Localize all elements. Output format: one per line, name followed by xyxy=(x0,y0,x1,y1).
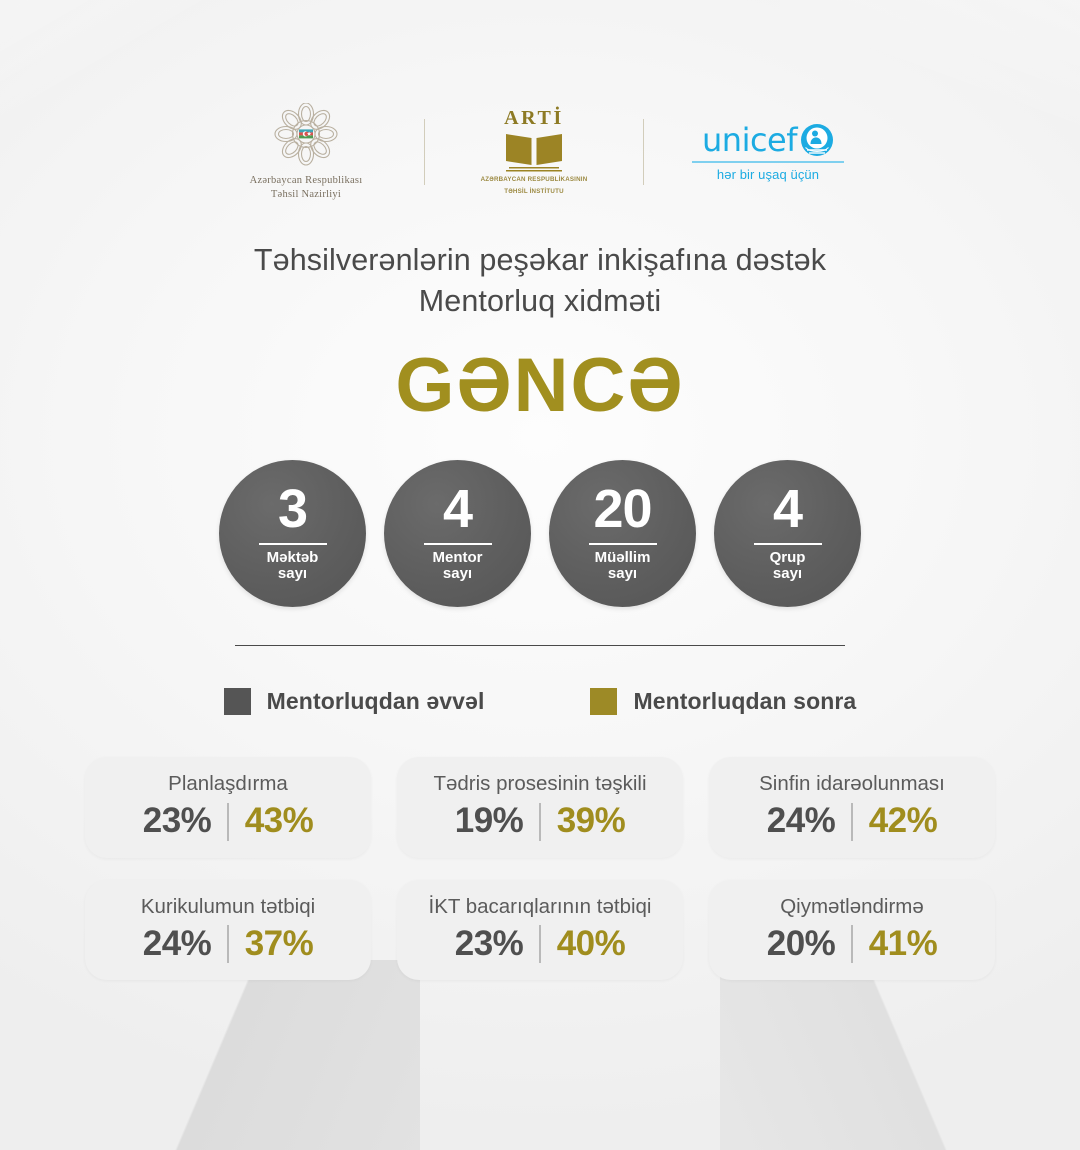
unicef-rule xyxy=(692,161,844,162)
stat-label-line1: Məktəb xyxy=(267,550,319,566)
metric-card-grid: Planlaşdırma 23% 43% Tədris prosesinin t… xyxy=(85,757,995,980)
arti-logo-sub2: TƏHSİL İNSTİTUTU xyxy=(504,188,563,197)
metric-value-after: 40% xyxy=(541,926,661,963)
metric-card-planlasdirma: Planlaşdırma 23% 43% xyxy=(85,757,371,858)
stat-rule xyxy=(259,543,327,544)
logo-bar: Azərbaycan Respublikası Təhsil Nazirliyi… xyxy=(0,0,1080,200)
metric-card-kurikulumun-tetbiqi: Kurikulumun tətbiqi 24% 37% xyxy=(85,880,371,981)
headline-line1: Təhsilverənlərin peşəkar inkişafına dəst… xyxy=(0,240,1080,281)
legend-swatch-after-icon xyxy=(590,688,617,715)
logo-divider-2 xyxy=(643,119,644,185)
legend-label-before: Mentorluqdan əvvəl xyxy=(267,688,485,715)
metric-value-after: 41% xyxy=(853,926,973,963)
metric-value-before: 23% xyxy=(419,926,539,963)
metric-value-before: 20% xyxy=(731,926,851,963)
stat-circle-mentors: 4 Mentor sayı xyxy=(384,460,531,607)
stat-rule xyxy=(424,543,492,544)
metric-value-after: 42% xyxy=(853,803,973,840)
city-name: GƏNCƏ xyxy=(0,348,1080,424)
metric-card-tedris-prosesinin-teskili: Tədris prosesinin təşkili 19% 39% xyxy=(397,757,683,858)
decorative-wedge-bottom-right xyxy=(720,960,1080,1150)
chart-legend: Mentorluqdan əvvəl Mentorluqdan sonra xyxy=(0,688,1080,715)
ministry-logo: Azərbaycan Respublikası Təhsil Nazirliyi xyxy=(222,103,390,201)
section-divider xyxy=(235,645,845,647)
arti-logo: ARTİ AZƏRBAYCAN RESPUBLİKASININ TƏHSİL İ… xyxy=(459,108,609,196)
logo-divider-1 xyxy=(424,119,425,185)
metric-value-after: 39% xyxy=(541,803,661,840)
metric-card-qiymetlendirme: Qiymətləndirmə 20% 41% xyxy=(709,880,995,981)
stat-label-line2: sayı xyxy=(267,566,319,582)
stat-label-line1: Qrup xyxy=(770,550,806,566)
metric-card-title: Planlaşdırma xyxy=(95,773,361,796)
stat-value: 4 xyxy=(443,484,472,536)
stat-label-line2: sayı xyxy=(770,566,806,582)
metric-card-ikt-bacariqlarinin-tetbiqi: İKT bacarıqlarının tətbiqi 23% 40% xyxy=(397,880,683,981)
legend-item-after: Mentorluqdan sonra xyxy=(590,688,856,715)
metric-value-after: 43% xyxy=(229,803,349,840)
stat-circle-schools: 3 Məktəb sayı xyxy=(219,460,366,607)
stat-circle-group: 3 Məktəb sayı 4 Mentor sayı 20 M xyxy=(0,460,1080,607)
stat-circle-teachers: 20 Müəllim sayı xyxy=(549,460,696,607)
azerbaijan-ministry-emblem-icon xyxy=(267,103,345,167)
unicef-wordmark: unicef xyxy=(702,124,797,156)
stat-label-line2: sayı xyxy=(433,566,483,582)
metric-card-title: Kurikulumun tətbiqi xyxy=(95,896,361,919)
unicef-logo: unicef xyxy=(678,123,858,180)
stat-value: 3 xyxy=(278,484,307,536)
unicef-tagline: hər bir uşaq üçün xyxy=(717,168,819,181)
metric-value-before: 24% xyxy=(731,803,851,840)
metric-card-title: Tədris prosesinin təşkili xyxy=(407,773,673,796)
arti-logo-sub1: AZƏRBAYCAN RESPUBLİKASININ xyxy=(481,176,588,185)
page-title: Təhsilverənlərin peşəkar inkişafına dəst… xyxy=(0,240,1080,322)
stat-rule xyxy=(754,543,822,544)
stat-label-line1: Müəllim xyxy=(595,550,651,566)
stat-value: 4 xyxy=(773,484,802,536)
open-book-icon xyxy=(503,131,565,173)
ministry-logo-line1: Azərbaycan Respublikası xyxy=(250,174,363,187)
infographic-poster: Azərbaycan Respublikası Təhsil Nazirliyi… xyxy=(0,0,1080,1150)
stat-label-line1: Mentor xyxy=(433,550,483,566)
unicef-globe-icon xyxy=(800,123,834,157)
metric-value-before: 19% xyxy=(419,803,539,840)
metric-card-title: Qiymətləndirmə xyxy=(719,896,985,919)
decorative-wedge-bottom-left xyxy=(0,960,420,1150)
ministry-logo-line2: Təhsil Nazirliyi xyxy=(271,188,341,201)
metric-value-before: 24% xyxy=(107,926,227,963)
metric-card-sinfin-idareolunmasi: Sinfin idarəolunması 24% 42% xyxy=(709,757,995,858)
stat-rule xyxy=(589,543,657,544)
arti-wordmark: ARTİ xyxy=(504,108,564,128)
legend-swatch-before-icon xyxy=(224,688,251,715)
metric-card-title: İKT bacarıqlarının tətbiqi xyxy=(407,896,673,919)
stat-value: 20 xyxy=(593,484,651,536)
metric-card-title: Sinfin idarəolunması xyxy=(719,773,985,796)
legend-item-before: Mentorluqdan əvvəl xyxy=(224,688,485,715)
metric-value-before: 23% xyxy=(107,803,227,840)
stat-label-line2: sayı xyxy=(595,566,651,582)
legend-label-after: Mentorluqdan sonra xyxy=(633,688,856,715)
metric-value-after: 37% xyxy=(229,926,349,963)
stat-circle-groups: 4 Qrup sayı xyxy=(714,460,861,607)
headline-line2: Mentorluq xidməti xyxy=(0,281,1080,322)
